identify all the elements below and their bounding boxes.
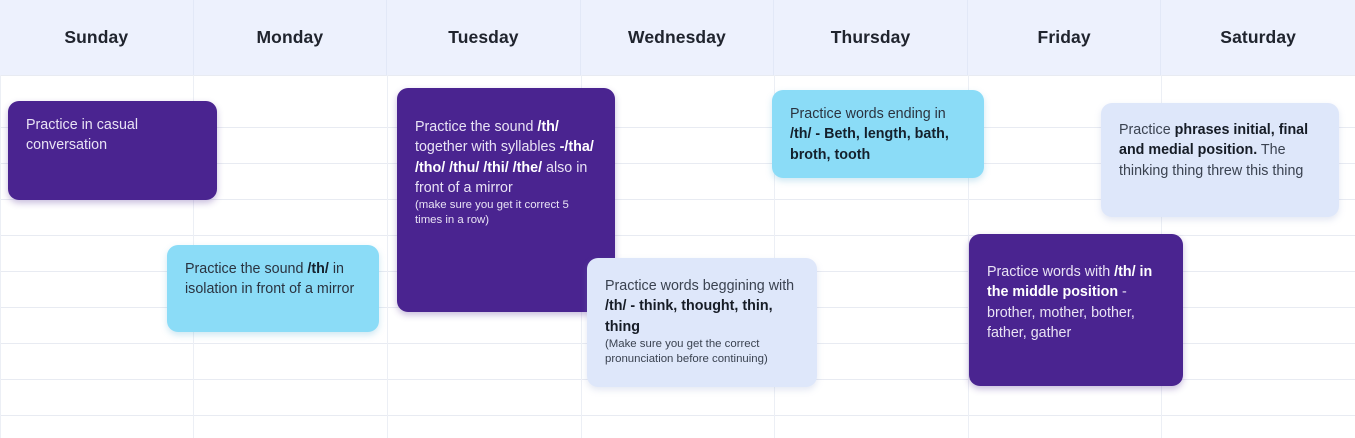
event-card-friday-medial-words[interactable]: Practice words with /th/ in the middle p… [969, 234, 1183, 386]
event-card-text: Practice the sound /th/ in isolation in … [185, 259, 361, 300]
grid-vline [0, 75, 1, 438]
calendar-header-row: Sunday Monday Tuesday Wednesday Thursday… [0, 0, 1355, 75]
event-card-tuesday-syllables-mirror[interactable]: Practice the sound /th/ together with sy… [397, 88, 615, 312]
event-card-wednesday-initial-words[interactable]: Practice words beggining with /th/ - thi… [587, 258, 817, 387]
day-header-label: Saturday [1220, 27, 1296, 48]
day-header-friday[interactable]: Friday [968, 0, 1162, 75]
day-header-label: Sunday [64, 27, 128, 48]
event-card-text: Practice words beggining with /th/ - thi… [605, 276, 799, 337]
day-header-tuesday[interactable]: Tuesday [387, 0, 581, 75]
event-card-note: (Make sure you get the correct pronuncia… [605, 337, 799, 367]
grid-hline [0, 75, 1355, 76]
event-card-text: Practice in casual conversation [26, 115, 199, 156]
day-header-label: Tuesday [448, 27, 518, 48]
event-card-monday-isolation-mirror[interactable]: Practice the sound /th/ in isolation in … [167, 245, 379, 332]
day-header-label: Thursday [831, 27, 911, 48]
day-header-monday[interactable]: Monday [194, 0, 388, 75]
grid-vline [387, 75, 388, 438]
day-header-saturday[interactable]: Saturday [1161, 0, 1355, 75]
day-header-label: Friday [1038, 27, 1091, 48]
day-header-label: Monday [256, 27, 323, 48]
day-header-wednesday[interactable]: Wednesday [581, 0, 775, 75]
day-header-sunday[interactable]: Sunday [0, 0, 194, 75]
event-card-saturday-phrases[interactable]: Practice phrases initial, final and medi… [1101, 103, 1339, 217]
day-header-thursday[interactable]: Thursday [774, 0, 968, 75]
grid-hline [0, 415, 1355, 416]
event-card-text: Practice words ending in /th/ - Beth, le… [790, 104, 966, 165]
event-card-text: Practice words with /th/ in the middle p… [987, 262, 1165, 343]
event-card-text: Practice the sound /th/ together with sy… [415, 117, 597, 198]
event-card-thursday-final-words[interactable]: Practice words ending in /th/ - Beth, le… [772, 90, 984, 178]
event-card-text: Practice phrases initial, final and medi… [1119, 120, 1321, 181]
weekly-calendar: Sunday Monday Tuesday Wednesday Thursday… [0, 0, 1355, 438]
event-card-note: (make sure you get it correct 5 times in… [415, 198, 597, 228]
event-card-sunday-casual-conversation[interactable]: Practice in casual conversation [8, 101, 217, 200]
day-header-label: Wednesday [628, 27, 726, 48]
